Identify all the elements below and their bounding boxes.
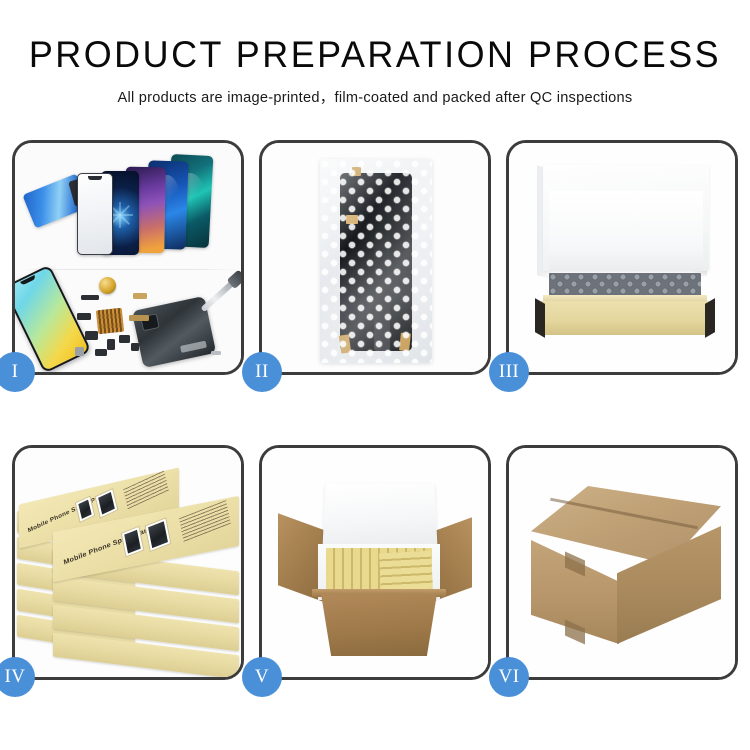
plastic-sheen (320, 159, 432, 363)
yellow-boxes-inside-image (379, 551, 433, 592)
step-badge-5: V (242, 657, 282, 697)
yellow-box-front-image (541, 301, 709, 335)
step-panel-6[interactable]: VI (506, 445, 738, 680)
step-image-2 (262, 143, 488, 372)
step-panel-1[interactable]: I (12, 140, 244, 375)
small-part-image (119, 335, 130, 343)
step-image-5 (262, 448, 488, 677)
step-badge-4: IV (0, 657, 35, 697)
process-step-grid: I II (12, 140, 738, 680)
step-image-6 (509, 448, 735, 677)
step-badge-6: VI (489, 657, 529, 697)
box-label-window (145, 517, 172, 552)
phone-front-glass-image (77, 173, 113, 255)
small-part-image (211, 351, 221, 355)
step-badge-2: II (242, 352, 282, 392)
box-label-window (95, 488, 119, 519)
step-badge-3: III (489, 352, 529, 392)
gold-coil-part-image (99, 277, 116, 294)
foam-lid-open-image (323, 483, 438, 548)
page-header: PRODUCT PREPARATION PROCESS All products… (0, 0, 750, 107)
page-subtitle: All products are image-printed，film-coat… (0, 86, 750, 107)
step-image-3 (509, 143, 735, 372)
step-panel-2[interactable]: II (259, 140, 491, 375)
small-part-image (75, 347, 84, 356)
carton-front-image (316, 594, 442, 656)
step-badge-1: I (0, 352, 35, 392)
small-part-image (81, 295, 99, 300)
step-panel-3[interactable]: III (506, 140, 738, 375)
small-part-image (133, 293, 147, 299)
chip-grid-part-image (96, 308, 124, 335)
page-title: PRODUCT PREPARATION PROCESS (11, 36, 739, 75)
step-panel-5[interactable]: V (259, 445, 491, 680)
foam-sheet-image (549, 191, 703, 271)
small-part-image (95, 349, 107, 356)
step-image-1 (15, 143, 241, 372)
small-part-image (129, 315, 149, 321)
bubble-wrap-bag-image (320, 159, 432, 363)
box-label-specs (179, 500, 231, 543)
small-part-image (107, 339, 115, 350)
small-part-image (77, 313, 91, 320)
step-panel-4[interactable]: Mobile Phone Spare Parts Mobile Phone Sp… (12, 445, 244, 680)
box-stack-image: Mobile Phone Spare Parts Mobile Phone Sp… (17, 460, 241, 675)
small-part-image (85, 331, 98, 340)
step-image-4: Mobile Phone Spare Parts Mobile Phone Sp… (15, 448, 241, 677)
box-label-specs (123, 471, 169, 510)
small-part-image (131, 343, 139, 351)
